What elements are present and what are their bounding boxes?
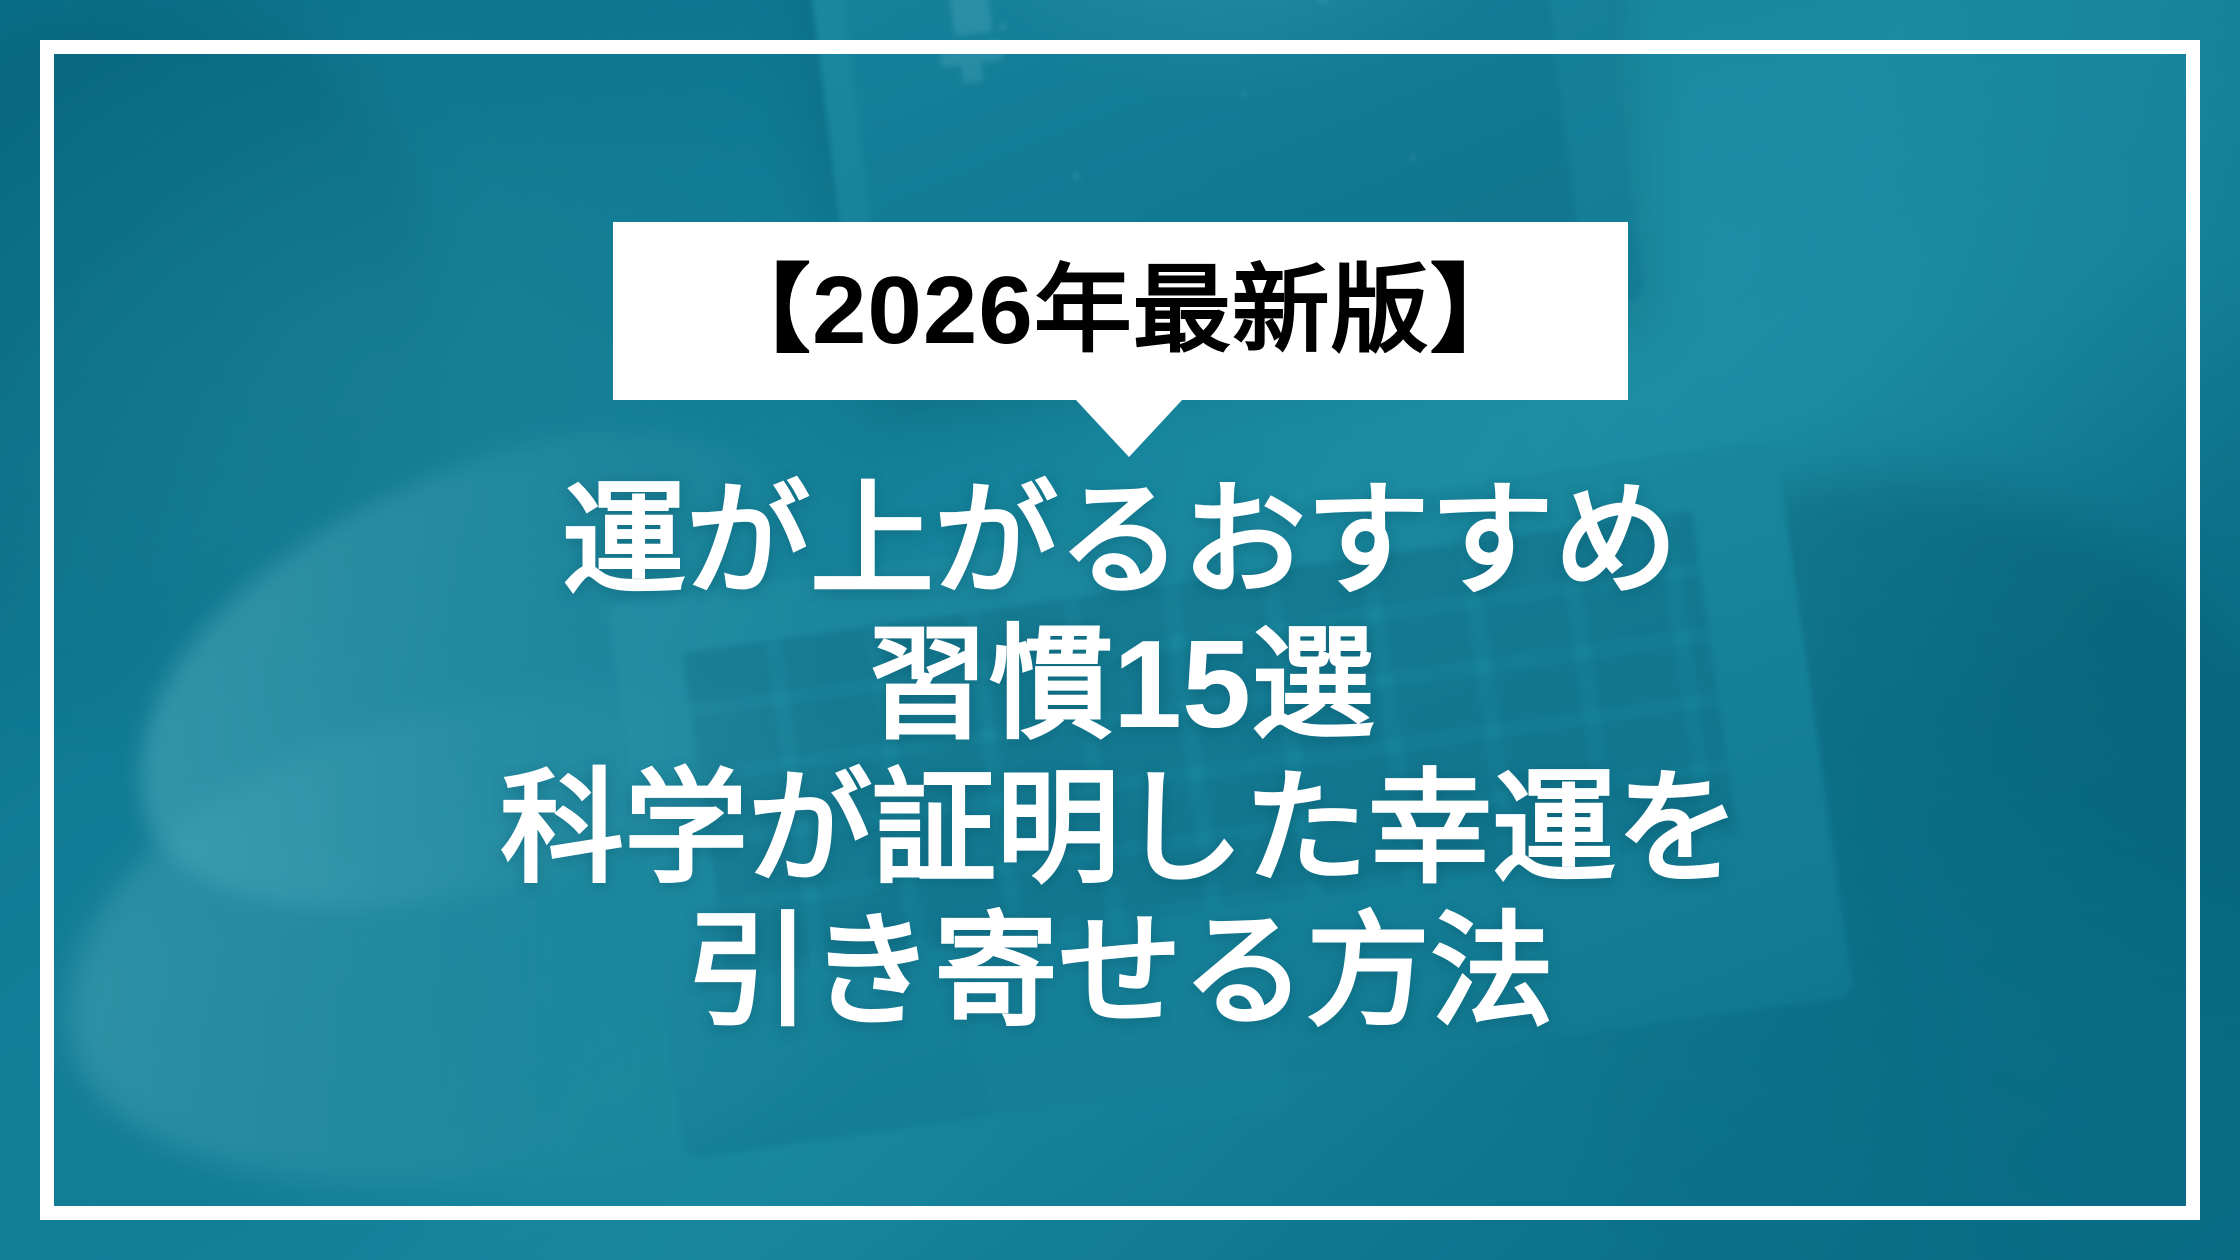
headline-line-4: 引き寄せる方法 [0, 901, 2240, 1045]
badge-box: 【2026年最新版】 [613, 222, 1628, 400]
badge: 【2026年最新版】 [613, 222, 1628, 400]
badge-tail-arrow [1075, 399, 1183, 457]
badge-label: 【2026年最新版】 [713, 263, 1529, 359]
headline: 運が上がるおすすめ 習慣15選 科学が証明した幸運を 引き寄せる方法 [0, 470, 2240, 1045]
headline-line-1: 運が上がるおすすめ [0, 470, 2240, 614]
thumbnail-canvas: 【2026年最新版】 運が上がるおすすめ 習慣15選 科学が証明した幸運を 引き… [0, 0, 2240, 1260]
headline-line-3: 科学が証明した幸運を [0, 758, 2240, 902]
headline-line-2: 習慣15選 [0, 614, 2240, 758]
